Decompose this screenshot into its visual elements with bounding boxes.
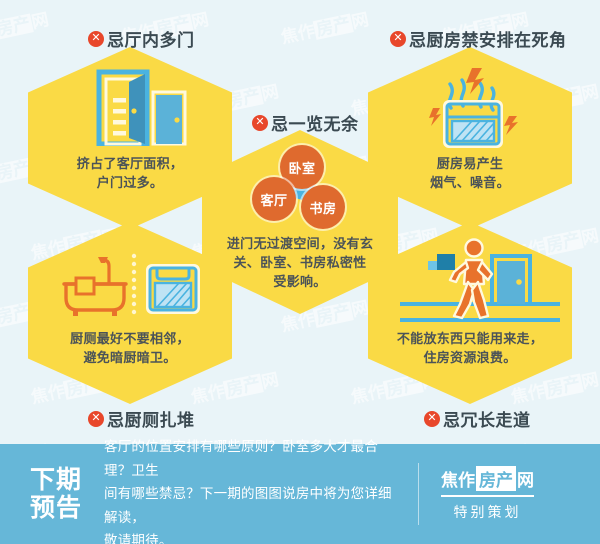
site-logo-highlight: 房产: [476, 466, 516, 491]
card-body-line: 住房资源浪费。: [384, 349, 556, 368]
bubble-label: 卧室: [288, 158, 315, 177]
card-body-line: 户门过多。: [48, 174, 212, 193]
footer-description-line: 客厅的位置安排有哪些原则？卧室多大才最合理？卫生: [104, 435, 404, 482]
x-badge-icon: ✕: [88, 411, 104, 427]
card-title-no-privacy: ✕ 忌一览无余: [252, 110, 359, 135]
footer-badge-line: 预告: [30, 494, 82, 522]
bubble-living-room: 客厅: [252, 177, 296, 221]
bubble-study: 书房: [301, 185, 345, 229]
footer-badge-line: 下期: [30, 466, 82, 494]
watermark-text: 焦作房产网: [278, 5, 370, 48]
x-badge-icon: ✕: [252, 115, 268, 131]
x-badge-icon: ✕: [88, 31, 104, 47]
footer-divider: [418, 463, 419, 525]
site-logo-main: 焦作 房产 网: [441, 466, 534, 491]
x-badge-icon: ✕: [424, 411, 440, 427]
card-title-kitchen-dead-corner: ✕ 忌厨房禁安排在死角: [390, 26, 567, 51]
footer-description-line: 敬请期待。: [104, 529, 404, 544]
card-body-no-privacy: 进门无过渡空间，没有玄 关、卧室、书房私密性 受影响。: [215, 235, 385, 292]
card-body-line: 不能放东西只能用来走，: [384, 330, 556, 349]
card-body-kitchen-dead-corner: 厨房易产生 烟气、噪音。: [388, 155, 552, 193]
x-badge-icon: ✕: [390, 31, 406, 47]
bathtub-stove-icon: [62, 252, 202, 320]
walking-person-door-icon: [400, 238, 560, 330]
card-title-text: 忌厨房禁安排在死角: [409, 26, 567, 51]
card-body-kitchen-bath-cluster: 厨厕最好不要相邻， 避免暗厨暗卫。: [48, 330, 212, 368]
footer-bar: 下期 预告 客厅的位置安排有哪些原则？卧室多大才最合理？卫生 间有哪些禁忌？下一…: [0, 444, 600, 544]
site-logo-suffix: 网: [517, 466, 534, 491]
card-body-line: 挤占了客厅面积，: [48, 155, 212, 174]
watermark-text: 焦作房产网: [0, 5, 51, 48]
card-title-text: 忌一览无余: [271, 110, 359, 135]
card-body-line: 进门无过渡空间，没有玄: [215, 235, 385, 254]
card-body-line: 厨房易产生: [388, 155, 552, 174]
stove-smoke-icon: [425, 62, 521, 150]
bubble-label: 书房: [309, 198, 336, 217]
site-logo-rule: [441, 495, 534, 497]
card-title-kitchen-bath-cluster: ✕ 忌厨厕扎堆: [88, 406, 195, 431]
card-title-text: 忌厅内多门: [107, 26, 195, 51]
site-logo-prefix: 焦作: [441, 466, 475, 491]
card-body-many-doors: 挤占了客厅面积， 户门过多。: [48, 155, 212, 193]
card-title-text: 忌冗长走道: [443, 406, 531, 431]
card-body-line: 受影响。: [215, 273, 385, 292]
card-body-line: 避免暗厨暗卫。: [48, 349, 212, 368]
infographic-root: 焦作房产网焦作房产网焦作房产网焦作房产网焦作房产网焦作房产网焦作房产网焦作房产网…: [0, 0, 600, 544]
bubble-label: 客厅: [260, 190, 287, 209]
two-doors-icon: [95, 68, 187, 146]
site-logo-subtitle: 特别策划: [441, 502, 534, 522]
card-title-text: 忌厨厕扎堆: [107, 406, 195, 431]
site-logo[interactable]: 焦作 房产 网 特别策划: [441, 466, 534, 522]
card-body-line: 关、卧室、书房私密性: [215, 254, 385, 273]
card-body-line: 烟气、噪音。: [388, 174, 552, 193]
card-body-long-corridor: 不能放东西只能用来走， 住房资源浪费。: [384, 330, 556, 368]
card-title-many-doors: ✕ 忌厅内多门: [88, 26, 195, 51]
footer-description-line: 间有哪些禁忌？下一期的图图说房中将为您详细解读，: [104, 482, 404, 529]
card-title-long-corridor: ✕ 忌冗长走道: [424, 406, 531, 431]
footer-description: 客厅的位置安排有哪些原则？卧室多大才最合理？卫生 间有哪些禁忌？下一期的图图说房…: [104, 435, 404, 544]
card-body-line: 厨厕最好不要相邻，: [48, 330, 212, 349]
footer-next-issue-badge: 下期 预告: [30, 466, 82, 522]
